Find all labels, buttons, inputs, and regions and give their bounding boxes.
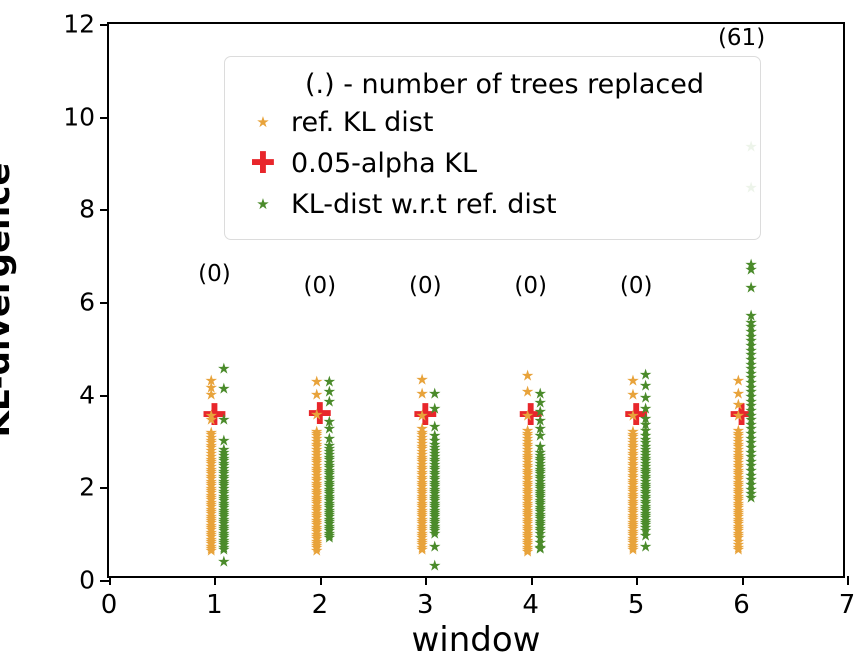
legend-box: (.) - number of trees replaced ★ref. KL … xyxy=(224,56,761,240)
data-point: ★ xyxy=(415,542,428,557)
data-point: ★ xyxy=(217,382,230,397)
chart-root: KL-divergence ✚✚✚✚✚✚★★★★★★★★★★★★★★★★★★★★… xyxy=(0,0,867,671)
x-tick-mark xyxy=(531,576,533,585)
y-tick-mark xyxy=(100,580,109,582)
data-point: ★ xyxy=(323,394,336,409)
data-point: ★ xyxy=(626,543,639,558)
data-point: ★ xyxy=(428,539,441,554)
x-tick-mark xyxy=(847,576,849,585)
y-tick-mark xyxy=(100,117,109,119)
data-point: ★ xyxy=(323,531,336,546)
x-tick-label: 1 xyxy=(206,590,223,620)
data-point: ★ xyxy=(217,413,230,428)
trees-replaced-annotation: (0) xyxy=(198,261,231,287)
trees-replaced-annotation: (0) xyxy=(304,273,337,299)
data-point: ★ xyxy=(521,545,534,560)
data-point: ★ xyxy=(639,539,652,554)
data-point: ★ xyxy=(217,362,230,377)
y-tick-label: 6 xyxy=(79,288,95,317)
x-tick-mark xyxy=(425,576,427,585)
y-tick-label: 12 xyxy=(63,10,95,39)
data-point: ★ xyxy=(415,386,428,401)
x-tick-mark xyxy=(214,576,216,585)
trees-replaced-annotation: (0) xyxy=(514,273,547,299)
y-tick-label: 10 xyxy=(63,102,95,131)
legend-entry-label: KL-dist w.r.t ref. dist xyxy=(291,189,557,220)
x-tick-label: 3 xyxy=(417,590,434,620)
x-tick-mark xyxy=(742,576,744,585)
data-point: ★ xyxy=(217,555,230,570)
data-point: ★ xyxy=(428,559,441,574)
legend-rows: ★ref. KL dist✚0.05-alpha KL★KL-dist w.r.… xyxy=(235,102,750,225)
trees-replaced-annotation: (61) xyxy=(718,25,765,51)
y-tick-label: 0 xyxy=(79,566,95,595)
legend-entry-label: 0.05-alpha KL xyxy=(291,148,477,179)
y-tick-mark xyxy=(100,24,109,26)
x-tick-mark xyxy=(320,576,322,585)
data-point: ★ xyxy=(626,408,639,423)
data-point: ★ xyxy=(428,401,441,416)
x-tick-label: 7 xyxy=(839,590,856,620)
legend-entry-0[interactable]: ★ref. KL dist xyxy=(235,102,750,143)
x-axis-label: window xyxy=(107,620,845,660)
data-point: ★ xyxy=(521,369,534,384)
x-tick-mark xyxy=(109,576,111,585)
y-tick-mark xyxy=(100,302,109,304)
legend-entry-1[interactable]: ✚0.05-alpha KL xyxy=(235,143,750,184)
y-axis-label: KL-divergence xyxy=(0,163,18,438)
x-tick-label: 4 xyxy=(522,590,539,620)
data-point: ★ xyxy=(744,281,757,296)
y-tick-label: 8 xyxy=(79,195,95,224)
x-tick-mark xyxy=(636,576,638,585)
y-tick-mark xyxy=(100,209,109,211)
data-point: ★ xyxy=(205,387,218,402)
legend-title: (.) - number of trees replaced xyxy=(259,69,750,100)
x-tick-label: 0 xyxy=(101,590,118,620)
plot-frame: ✚✚✚✚✚✚★★★★★★★★★★★★★★★★★★★★★★★★★★★★★★★★★★… xyxy=(107,22,845,578)
data-point: ★ xyxy=(744,262,757,277)
data-point: ★ xyxy=(732,543,745,558)
y-tick-mark xyxy=(100,487,109,489)
trees-replaced-annotation: (0) xyxy=(620,273,653,299)
trees-replaced-annotation: (0) xyxy=(409,273,442,299)
data-point: ★ xyxy=(626,387,639,402)
x-tick-label: 5 xyxy=(628,590,645,620)
y-tick-label: 2 xyxy=(79,473,95,502)
legend-entry-2[interactable]: ★KL-dist w.r.t ref. dist xyxy=(235,184,750,225)
x-tick-label: 6 xyxy=(733,590,750,620)
data-point: ★ xyxy=(205,544,218,559)
data-point: ★ xyxy=(533,542,546,557)
star-marker-icon: ★ xyxy=(235,115,291,130)
y-tick-mark xyxy=(100,395,109,397)
star-marker-icon: ★ xyxy=(235,197,291,212)
data-point: ★ xyxy=(521,385,534,400)
y-tick-label: 4 xyxy=(79,380,95,409)
data-point: ★ xyxy=(310,408,323,423)
legend-entry-label: ref. KL dist xyxy=(291,107,433,138)
plus-marker-icon: ✚ xyxy=(235,149,291,179)
x-tick-label: 2 xyxy=(312,590,329,620)
data-point: ★ xyxy=(310,387,323,402)
data-point: ★ xyxy=(744,490,757,505)
data-point: ★ xyxy=(310,543,323,558)
